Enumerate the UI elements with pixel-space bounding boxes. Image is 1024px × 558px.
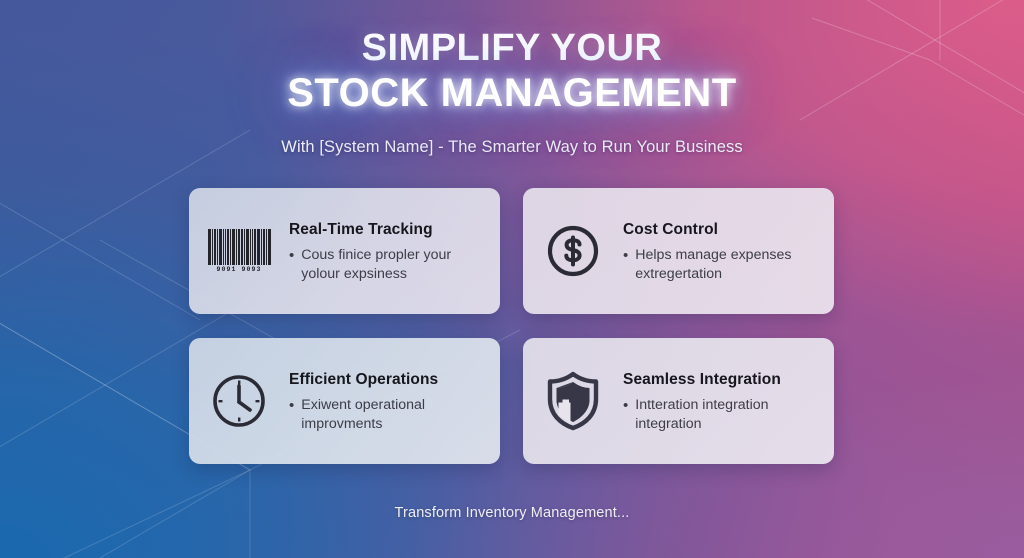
shield-glyph (545, 371, 601, 431)
barcode-icon: 9091 9093 (203, 215, 275, 287)
card-bullet-text: Intteration integration integration (635, 396, 818, 434)
card-body: Cost Control • Helps manage expenses ext… (623, 219, 818, 284)
title-block: SIMPLIFY YOUR STOCK MANAGEMENT (0, 28, 1024, 116)
card-body: Real-Time Tracking • Cous finice propler… (289, 219, 484, 284)
card-body: Efficient Operations • Exiwent operation… (289, 369, 484, 434)
card-bullet-text: Exiwent operational improvments (301, 396, 484, 434)
card-bullet-text: Cous finice propler your yolour expsines… (301, 246, 484, 284)
barcode-graphic: 9091 9093 (208, 229, 271, 273)
feature-card-cost-control[interactable]: Cost Control • Helps manage expenses ext… (523, 188, 834, 314)
card-title: Seamless Integration (623, 371, 818, 389)
page-title-line-1: SIMPLIFY YOUR (0, 28, 1024, 69)
clock-glyph (210, 372, 268, 430)
slide-canvas: SIMPLIFY YOUR STOCK MANAGEMENT With [Sys… (0, 0, 1024, 558)
card-bullet: • Intteration integration integration (623, 396, 818, 434)
page-title-line-2: STOCK MANAGEMENT (0, 72, 1024, 116)
card-bullet: • Exiwent operational improvments (289, 396, 484, 434)
card-title: Real-Time Tracking (289, 221, 484, 239)
header: SIMPLIFY YOUR STOCK MANAGEMENT With [Sys… (0, 28, 1024, 157)
footer-tagline: Transform Inventory Management... (0, 505, 1024, 521)
dollar-circle-glyph (545, 223, 601, 279)
feature-card-efficient-operations[interactable]: Efficient Operations • Exiwent operation… (189, 338, 500, 464)
feature-card-grid: 9091 9093 Real-Time Tracking • Cous fini… (189, 188, 836, 464)
card-bullet-text: Helps manage expenses extregertation (635, 246, 818, 284)
page-subtitle: With [System Name] - The Smarter Way to … (0, 138, 1024, 157)
bullet-marker-icon: • (289, 246, 294, 266)
card-bullet: • Helps manage expenses extregertation (623, 246, 818, 284)
bullet-marker-icon: • (289, 396, 294, 416)
card-bullet: • Cous finice propler your yolour expsin… (289, 246, 484, 284)
bullet-marker-icon: • (623, 246, 628, 266)
card-body: Seamless Integration • Intteration integ… (623, 369, 818, 434)
card-title: Efficient Operations (289, 371, 484, 389)
shield-icon (537, 365, 609, 437)
feature-card-seamless-integration[interactable]: Seamless Integration • Intteration integ… (523, 338, 834, 464)
barcode-digits: 9091 9093 (216, 266, 261, 273)
dollar-circle-icon (537, 215, 609, 287)
bullet-marker-icon: • (623, 396, 628, 416)
barcode-bars (208, 229, 271, 265)
clock-icon (203, 365, 275, 437)
feature-card-real-time-tracking[interactable]: 9091 9093 Real-Time Tracking • Cous fini… (189, 188, 500, 314)
card-title: Cost Control (623, 221, 818, 239)
